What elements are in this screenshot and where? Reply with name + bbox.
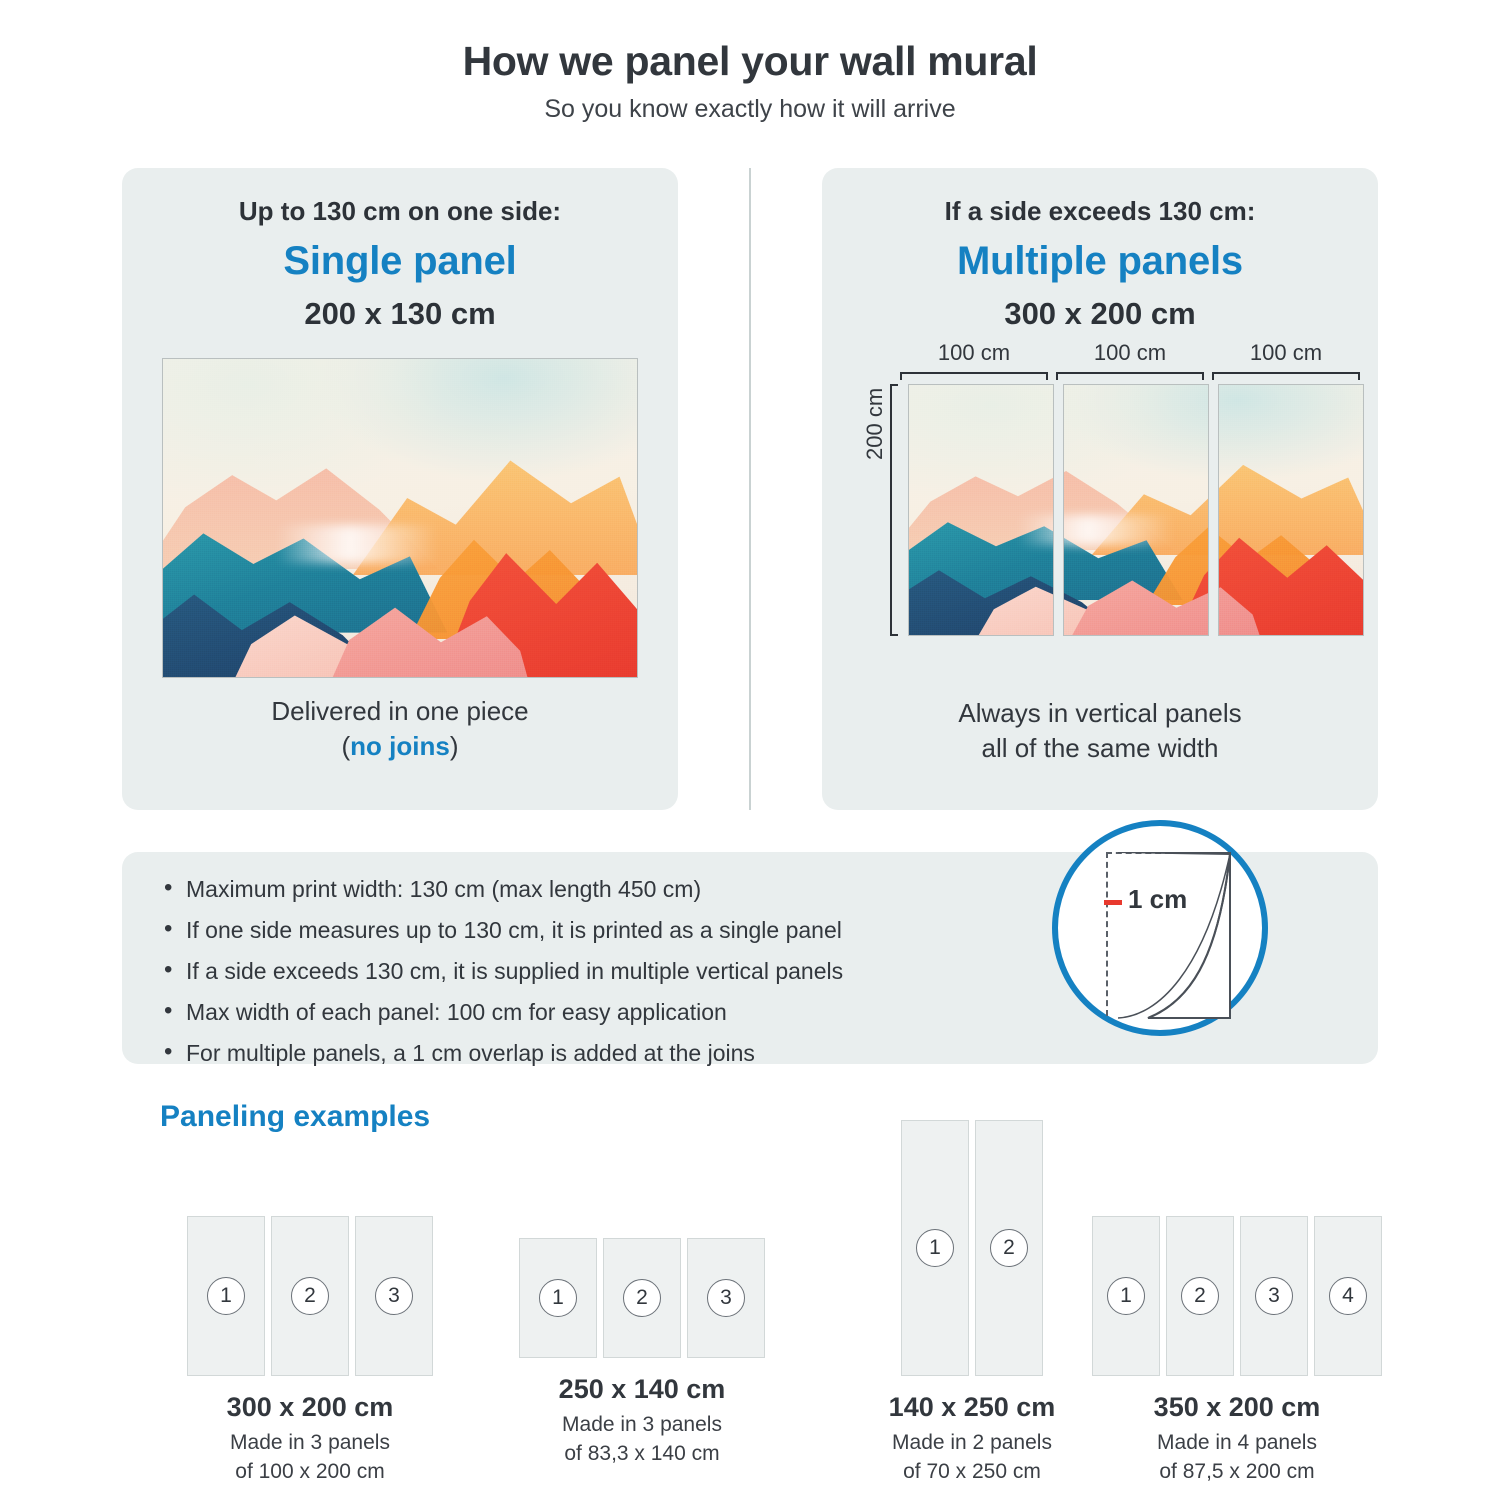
multiple-panels-dimensions: 300 x 200 cm xyxy=(846,296,1354,332)
example-2-panel-size: of 83,3 x 140 cm xyxy=(492,1440,792,1467)
example-2-made-in: Made in 3 panels xyxy=(492,1411,792,1438)
artwork-texture xyxy=(163,359,637,677)
example-4: 1 2 3 4 350 x 200 cm Made in 4 panels of… xyxy=(1072,1216,1402,1486)
specifications-card: Maximum print width: 130 cm (max length … xyxy=(122,852,1378,1064)
example-1-panel-2: 2 xyxy=(271,1216,349,1376)
overlap-diagram: 1 cm xyxy=(1052,820,1268,1036)
single-panel-headline: Single panel xyxy=(146,239,654,284)
example-4-panel-4: 4 xyxy=(1314,1216,1382,1376)
overlap-measure-label: 1 cm xyxy=(1128,884,1187,915)
single-panel-footnote-line2: (no joins) xyxy=(146,729,654,764)
example-1-panel-1: 1 xyxy=(187,1216,265,1376)
comparison-cards: Up to 130 cm on one side: Single panel 2… xyxy=(122,168,1378,810)
example-1-panel-size: of 100 x 200 cm xyxy=(160,1458,460,1485)
overlap-dashed-vertical xyxy=(1106,852,1108,1016)
single-panel-footnote-line1: Delivered in one piece xyxy=(146,694,654,729)
example-4-panel-2: 2 xyxy=(1166,1216,1234,1376)
panel-number: 1 xyxy=(1107,1277,1145,1315)
panel-number: 2 xyxy=(291,1277,329,1315)
panel-number: 1 xyxy=(539,1279,577,1317)
brace-segment-2 xyxy=(1056,372,1204,380)
panel-slice-1 xyxy=(908,384,1054,636)
multiple-panels-headline: Multiple panels xyxy=(846,239,1354,284)
panel-slice-3 xyxy=(1218,384,1364,636)
panel-height-label: 200 cm xyxy=(862,388,888,460)
example-2-panel-2: 2 xyxy=(603,1238,681,1358)
panel-width-label-3: 100 cm xyxy=(1212,340,1360,366)
brace-segment-3 xyxy=(1212,372,1360,380)
example-2-dimensions: 250 x 140 cm xyxy=(492,1374,792,1405)
page-subtitle: So you know exactly how it will arrive xyxy=(0,95,1500,124)
example-1-made-in: Made in 3 panels xyxy=(160,1429,460,1456)
top-measure-brace xyxy=(900,372,1372,380)
example-4-panel-1: 1 xyxy=(1092,1216,1160,1376)
overlap-red-marker xyxy=(1104,900,1122,905)
example-1-shape: 1 2 3 xyxy=(160,1216,460,1376)
multiple-panels-footnote-line2: all of the same width xyxy=(846,731,1354,766)
card-divider xyxy=(749,168,751,810)
example-3-panel-2: 2 xyxy=(975,1120,1043,1376)
panel-number: 3 xyxy=(707,1279,745,1317)
mural-artwork-single xyxy=(162,358,638,678)
multiple-panels-card: If a side exceeds 130 cm: Multiple panel… xyxy=(822,168,1378,810)
side-measure-brace xyxy=(890,384,898,636)
panel-number: 2 xyxy=(1181,1277,1219,1315)
single-panel-card: Up to 130 cm on one side: Single panel 2… xyxy=(122,168,678,810)
example-2-panel-3: 3 xyxy=(687,1238,765,1358)
no-joins-accent: no joins xyxy=(350,731,450,761)
multiple-panels-eyebrow: If a side exceeds 130 cm: xyxy=(846,196,1354,227)
slice-artwork-1 xyxy=(909,385,1054,635)
infographic-page: How we panel your wall mural So you know… xyxy=(0,0,1500,1500)
slice-artwork-2 xyxy=(1063,385,1209,635)
example-1: 1 2 3 300 x 200 cm Made in 3 panels of 1… xyxy=(160,1216,460,1486)
example-4-panel-size: of 87,5 x 200 cm xyxy=(1072,1458,1402,1485)
example-2-panel-1: 1 xyxy=(519,1238,597,1358)
page-title: How we panel your wall mural xyxy=(0,38,1500,85)
example-2-shape: 1 2 3 xyxy=(492,1238,792,1358)
paneling-examples: 1 2 3 300 x 200 cm Made in 3 panels of 1… xyxy=(122,1120,1378,1480)
example-1-dimensions: 300 x 200 cm xyxy=(160,1392,460,1423)
list-item: For multiple panels, a 1 cm overlap is a… xyxy=(158,1042,1378,1065)
brace-segment-1 xyxy=(900,372,1048,380)
multiple-panels-footnote: Always in vertical panels all of the sam… xyxy=(846,696,1354,766)
artwork-texture xyxy=(909,385,1054,635)
panel-width-labels: 100 cm 100 cm 100 cm xyxy=(900,340,1372,366)
panel-number: 1 xyxy=(207,1277,245,1315)
example-2: 1 2 3 250 x 140 cm Made in 3 panels of 8… xyxy=(492,1238,792,1468)
panel-slice-2 xyxy=(1063,384,1209,636)
panel-number: 3 xyxy=(1255,1277,1293,1315)
panel-width-label-1: 100 cm xyxy=(900,340,1048,366)
panel-number: 3 xyxy=(375,1277,413,1315)
panel-slices xyxy=(908,384,1364,636)
single-panel-footnote: Delivered in one piece (no joins) xyxy=(146,694,654,764)
panel-number: 4 xyxy=(1329,1277,1367,1315)
multiple-panels-footnote-line1: Always in vertical panels xyxy=(846,696,1354,731)
artwork-texture xyxy=(1218,385,1364,635)
single-panel-eyebrow: Up to 130 cm on one side: xyxy=(146,196,654,227)
example-4-dimensions: 350 x 200 cm xyxy=(1072,1392,1402,1423)
page-header: How we panel your wall mural So you know… xyxy=(0,0,1500,124)
example-1-panel-3: 3 xyxy=(355,1216,433,1376)
mural-artwork-multi: 100 cm 100 cm 100 cm 200 cm xyxy=(864,340,1336,680)
panel-number: 2 xyxy=(623,1279,661,1317)
paper-curl-icon xyxy=(1118,852,1232,1020)
artwork-texture xyxy=(1063,385,1209,635)
panel-width-label-2: 100 cm xyxy=(1056,340,1204,366)
overlap-diagram-inner: 1 cm xyxy=(1058,826,1262,1030)
panel-number: 1 xyxy=(916,1229,954,1267)
example-4-panel-3: 3 xyxy=(1240,1216,1308,1376)
example-4-shape: 1 2 3 4 xyxy=(1072,1216,1402,1376)
single-panel-dimensions: 200 x 130 cm xyxy=(146,296,654,332)
panel-number: 2 xyxy=(990,1229,1028,1267)
example-4-made-in: Made in 4 panels xyxy=(1072,1429,1402,1456)
paren-close: ) xyxy=(450,731,459,761)
example-3-panel-1: 1 xyxy=(901,1120,969,1376)
paren-open: ( xyxy=(341,731,350,761)
slice-artwork-3 xyxy=(1218,385,1364,635)
